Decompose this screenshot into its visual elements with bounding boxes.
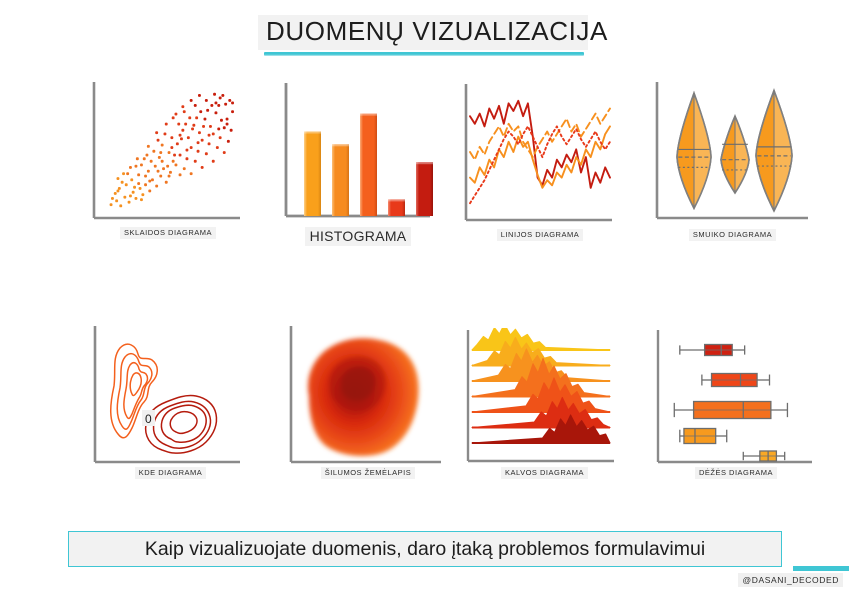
caption-kde-text: KDE DIAGRAMA — [135, 467, 207, 479]
panel-ridgeline: KALVOS DIAGRAMA — [462, 328, 627, 493]
caption-boxplot: DĖŽĖS DIAGRAMA — [652, 468, 820, 477]
line-svg — [460, 80, 620, 228]
takeaway-text: Kaip vizualizuojate duomenis, daro įtaką… — [145, 538, 705, 561]
watermark-accent-bar — [793, 566, 849, 571]
caption-ridgeline: KALVOS DIAGRAMA — [462, 468, 627, 477]
caption-scatter-text: SKLAIDOS DIAGRAMA — [120, 227, 216, 239]
histogram-bars — [304, 114, 433, 216]
kde-annotation: 0 — [142, 410, 155, 426]
axis-lines — [95, 326, 240, 462]
caption-histogram-text: HISTOGRAMA — [305, 227, 412, 246]
caption-line: LINIJOS DIAGRAMA — [460, 230, 620, 239]
panel-kde: 0 KDE DIAGRAMA — [88, 322, 253, 492]
heatmap-blob — [308, 338, 419, 456]
panel-heatmap: ŠILUMOS ŽEMĖLAPIS — [283, 322, 453, 492]
ridgeline-plot — [462, 328, 627, 468]
violin-shapes — [677, 91, 792, 211]
caption-violin: SMUIKO DIAGRAMA — [650, 230, 815, 239]
histogram-plot — [278, 80, 438, 226]
heatmap-plot — [283, 322, 453, 470]
kde-plot: 0 — [88, 322, 253, 470]
kde-contours-lower — [146, 395, 217, 453]
panel-histogram: HISTOGRAMA — [278, 80, 438, 255]
histogram-svg — [278, 80, 438, 226]
boxplot-plot — [652, 328, 820, 470]
panel-line: LINIJOS DIAGRAMA — [460, 80, 620, 255]
violin-plot — [650, 78, 815, 228]
caption-line-text: LINIJOS DIAGRAMA — [497, 229, 583, 241]
caption-heatmap-text: ŠILUMOS ŽEMĖLAPIS — [321, 467, 415, 479]
boxplot-svg — [652, 328, 820, 470]
caption-kde: KDE DIAGRAMA — [88, 468, 253, 477]
slide-canvas: DUOMENŲ VIZUALIZACIJA SKLAIDOS DIAGRAMA — [0, 0, 849, 600]
watermark: @DASANI_DECODED — [738, 573, 843, 587]
page-title: DUOMENŲ VIZUALIZACIJA — [258, 15, 588, 50]
kde-label-zero: 0 — [145, 412, 152, 426]
line-plot — [460, 80, 620, 228]
takeaway-banner: Kaip vizualizuojate duomenis, daro įtaką… — [68, 531, 782, 567]
scatter-points — [110, 93, 234, 208]
ridgeline-svg — [462, 328, 627, 468]
title-block: DUOMENŲ VIZUALIZACIJA — [258, 15, 588, 56]
violin-svg — [650, 78, 815, 228]
kde-svg: 0 — [88, 322, 253, 470]
axis-lines — [94, 82, 240, 218]
panel-scatter: SKLAIDOS DIAGRAMA — [88, 78, 248, 253]
panel-boxplot: DĖŽĖS DIAGRAMA — [652, 328, 820, 493]
caption-histogram: HISTOGRAMA — [278, 228, 438, 244]
title-underline — [264, 52, 584, 56]
panel-violin: SMUIKO DIAGRAMA — [650, 78, 815, 253]
boxplot-boxes — [674, 345, 787, 462]
scatter-plot — [88, 78, 248, 226]
ridgeline-ridges — [472, 328, 610, 443]
scatter-svg — [88, 78, 248, 226]
caption-boxplot-text: DĖŽĖS DIAGRAMA — [695, 467, 777, 479]
caption-scatter: SKLAIDOS DIAGRAMA — [88, 228, 248, 237]
caption-heatmap: ŠILUMOS ŽEMĖLAPIS — [283, 468, 453, 477]
heatmap-svg — [283, 322, 453, 470]
line-series — [470, 101, 610, 203]
caption-violin-text: SMUIKO DIAGRAMA — [689, 229, 776, 241]
caption-ridgeline-text: KALVOS DIAGRAMA — [501, 467, 588, 479]
